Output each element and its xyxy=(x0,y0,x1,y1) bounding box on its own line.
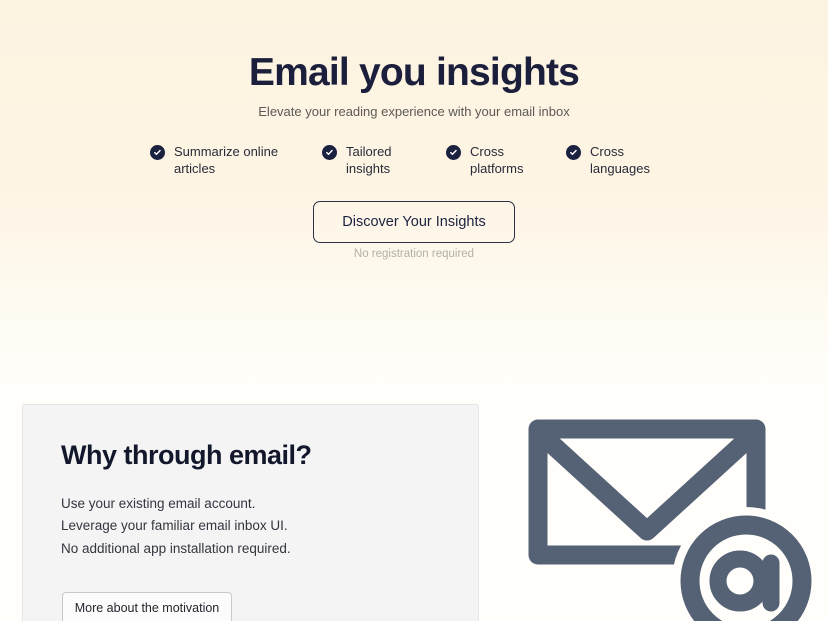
feature-list: Summarize online articles Tailored insig… xyxy=(142,143,702,187)
why-card-body: Use your existing email account. Leverag… xyxy=(61,493,451,560)
why-card-line: No additional app installation required. xyxy=(61,538,451,560)
page-title: Email you insights xyxy=(0,49,828,97)
check-circle-icon xyxy=(322,145,337,160)
check-circle-icon xyxy=(446,145,461,160)
more-about-motivation-button[interactable]: More about the motivation xyxy=(62,592,232,621)
feature-label: Cross platforms xyxy=(470,143,556,177)
email-at-symbol-icon xyxy=(524,415,824,621)
feature-label: Cross languages xyxy=(590,143,686,177)
hero-subtitle: Elevate your reading experience with you… xyxy=(0,103,828,121)
no-registration-note: No registration required xyxy=(0,247,828,262)
feature-label: Summarize online articles xyxy=(174,143,300,177)
check-circle-icon xyxy=(150,145,165,160)
why-through-email-card: Why through email? Use your existing ema… xyxy=(22,404,479,621)
feature-item: Summarize online articles xyxy=(150,143,300,177)
feature-item: Tailored insights xyxy=(322,143,432,177)
why-card-line: Leverage your familiar email inbox UI. xyxy=(61,515,451,537)
hero-section: Email you insights Elevate your reading … xyxy=(0,0,828,400)
feature-item: Cross platforms xyxy=(446,143,556,177)
discover-insights-button[interactable]: Discover Your Insights xyxy=(313,201,515,243)
why-card-line: Use your existing email account. xyxy=(61,493,451,515)
feature-label: Tailored insights xyxy=(346,143,432,177)
check-circle-icon xyxy=(566,145,581,160)
feature-item: Cross languages xyxy=(566,143,686,177)
why-card-title: Why through email? xyxy=(61,437,312,473)
